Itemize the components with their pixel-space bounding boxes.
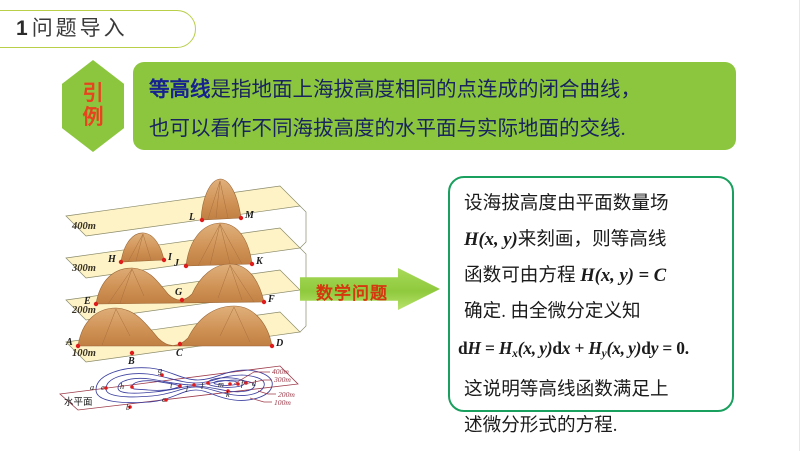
- math-line-3-text: 函数可由方程: [464, 265, 580, 286]
- example-badge-char-bottom: 例: [83, 106, 104, 130]
- terrain-point-J: J: [173, 258, 180, 269]
- contour-point-k: k: [226, 390, 230, 399]
- math-problem-arrow: 数学问题: [300, 268, 440, 310]
- intro-callout: 等高线是指地面上海拔高度相同的点连成的闭合曲线， 也可以看作不同海拔高度的水平面…: [133, 62, 736, 150]
- terrain-point-M: M: [244, 210, 255, 221]
- math-line-6: 这说明等高线函数满足上: [464, 372, 722, 408]
- terrain-point-F: F: [267, 294, 275, 305]
- contour-leader-label-300: 300m: [273, 375, 291, 384]
- terrain-point-L: L: [188, 212, 195, 223]
- contour-point-g: g: [158, 366, 162, 375]
- math-explanation-panel: 设海拔高度由平面数量场 H(x, y)来刻画，则等高线 函数可由方程 H(x, …: [448, 176, 734, 412]
- terrain-point-G: G: [175, 287, 183, 298]
- page-title-number: 1: [16, 17, 28, 40]
- contour-point-a: a: [90, 383, 94, 392]
- contour-point-m: m: [218, 380, 224, 389]
- intro-line-1: 等高线是指地面上海拔高度相同的点连成的闭合曲线，: [149, 71, 720, 110]
- contour-point-h: h: [120, 382, 124, 391]
- math-line-5-formula: dH = Hx(x, y)dx + Hy(x, y)dy = 0.: [458, 330, 722, 372]
- example-badge: 引 例: [62, 60, 124, 152]
- terrain-point-H: H: [107, 254, 117, 265]
- math-line-2-text: 来刻画，则等高线: [518, 229, 667, 250]
- terrain-figure: 400m L M 300m H: [58, 176, 308, 411]
- intro-line-2: 也可以看作不同海拔高度的水平面与实际地面的交线.: [149, 110, 720, 149]
- terrain-svg: 400m L M 300m H: [58, 176, 308, 411]
- page-title-label: 问题导入: [32, 17, 128, 40]
- terrain-plane-label-400: 400m: [71, 221, 96, 232]
- math-line-3-expr: H(x, y) = C: [580, 265, 666, 286]
- terrain-plane-label-100: 100m: [72, 348, 96, 359]
- contour-point-e: e: [101, 383, 105, 392]
- terrain-point-B: B: [127, 356, 135, 367]
- math-line-3: 函数可由方程 H(x, y) = C: [464, 258, 722, 294]
- example-badge-char-top: 引: [83, 82, 104, 106]
- terrain-point-E: E: [83, 296, 91, 307]
- terrain-point-K: K: [255, 256, 264, 267]
- contour-plane-label: 水平面: [64, 396, 93, 408]
- math-line-7: 述微分形式的方程.: [464, 408, 722, 444]
- contour-map: a e h i g j l m f d k c b: [60, 366, 298, 411]
- terrain-plane-label-300: 300m: [71, 263, 96, 274]
- math-line-4: 确定. 由全微分定义知: [464, 294, 722, 330]
- contour-point-c: c: [162, 395, 166, 404]
- terrain-point-D: D: [275, 338, 283, 349]
- slide-canvas: 1问题导入 引 例 等高线是指地面上海拔高度相同的点连成的闭合曲线， 也可以看作…: [0, 0, 800, 451]
- page-title: 1问题导入: [16, 12, 128, 42]
- contour-leader-label-100: 100m: [274, 398, 291, 407]
- intro-line-1-rest: 是指地面上海拔高度相同的点连成的闭合曲线，: [211, 79, 642, 101]
- contour-point-b: b: [126, 403, 130, 411]
- intro-keyword: 等高线: [149, 79, 211, 101]
- terrain-point-A: A: [65, 337, 73, 348]
- terrain-point-C: C: [176, 348, 183, 359]
- math-line-2-expr: H(x, y): [464, 229, 518, 250]
- math-line-1: 设海拔高度由平面数量场: [464, 186, 722, 222]
- terrain-plane-400: 400m: [66, 186, 300, 236]
- math-problem-arrow-label: 数学问题: [306, 279, 398, 304]
- math-line-2: H(x, y)来刻画，则等高线: [464, 222, 722, 258]
- terrain-plane-300: 300m: [66, 228, 300, 278]
